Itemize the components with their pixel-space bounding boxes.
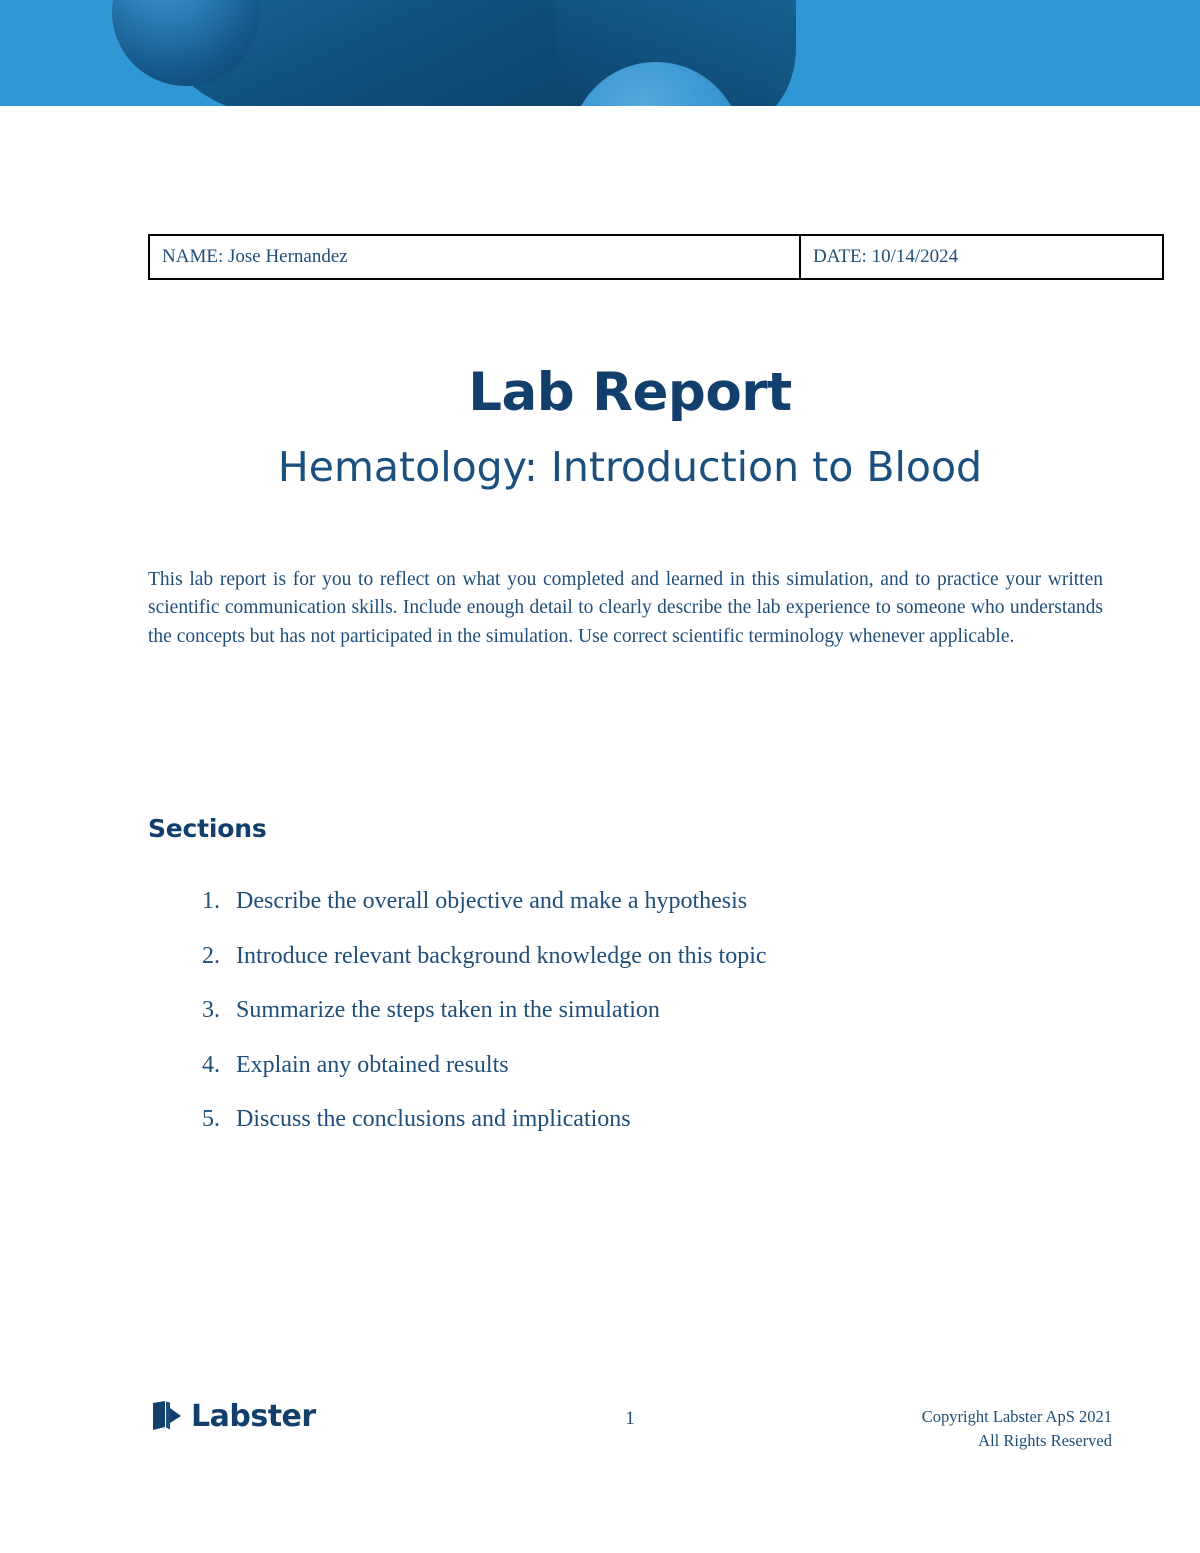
table-row: NAME: Jose Hernandez DATE: 10/14/2024 xyxy=(149,235,1163,279)
name-date-table: NAME: Jose Hernandez DATE: 10/14/2024 xyxy=(148,234,1164,280)
document-page: NAME: Jose Hernandez DATE: 10/14/2024 La… xyxy=(0,106,1200,1553)
page-subtitle: Hematology: Introduction to Blood xyxy=(148,444,1112,491)
list-item: Introduce relevant background knowledge … xyxy=(226,943,767,971)
copyright-notice: Copyright Labster ApS 2021 All Rights Re… xyxy=(922,1405,1112,1453)
list-item: Discuss the conclusions and implications xyxy=(226,1106,767,1134)
page-title: Lab Report xyxy=(148,364,1112,422)
sections-heading: Sections xyxy=(148,814,267,843)
intro-paragraph: This lab report is for you to reflect on… xyxy=(148,566,1103,652)
header-banner xyxy=(0,0,1200,106)
date-cell[interactable]: DATE: 10/14/2024 xyxy=(800,235,1163,279)
page-footer: Labster 1 Copyright Labster ApS 2021 All… xyxy=(148,1401,1112,1491)
list-item: Describe the overall objective and make … xyxy=(226,888,767,916)
list-item: Explain any obtained results xyxy=(226,1052,767,1080)
copyright-line-1: Copyright Labster ApS 2021 xyxy=(922,1405,1112,1429)
name-cell[interactable]: NAME: Jose Hernandez xyxy=(149,235,800,279)
copyright-line-2: All Rights Reserved xyxy=(922,1429,1112,1453)
sections-list: Describe the overall objective and make … xyxy=(178,888,767,1161)
list-item: Summarize the steps taken in the simulat… xyxy=(226,997,767,1025)
